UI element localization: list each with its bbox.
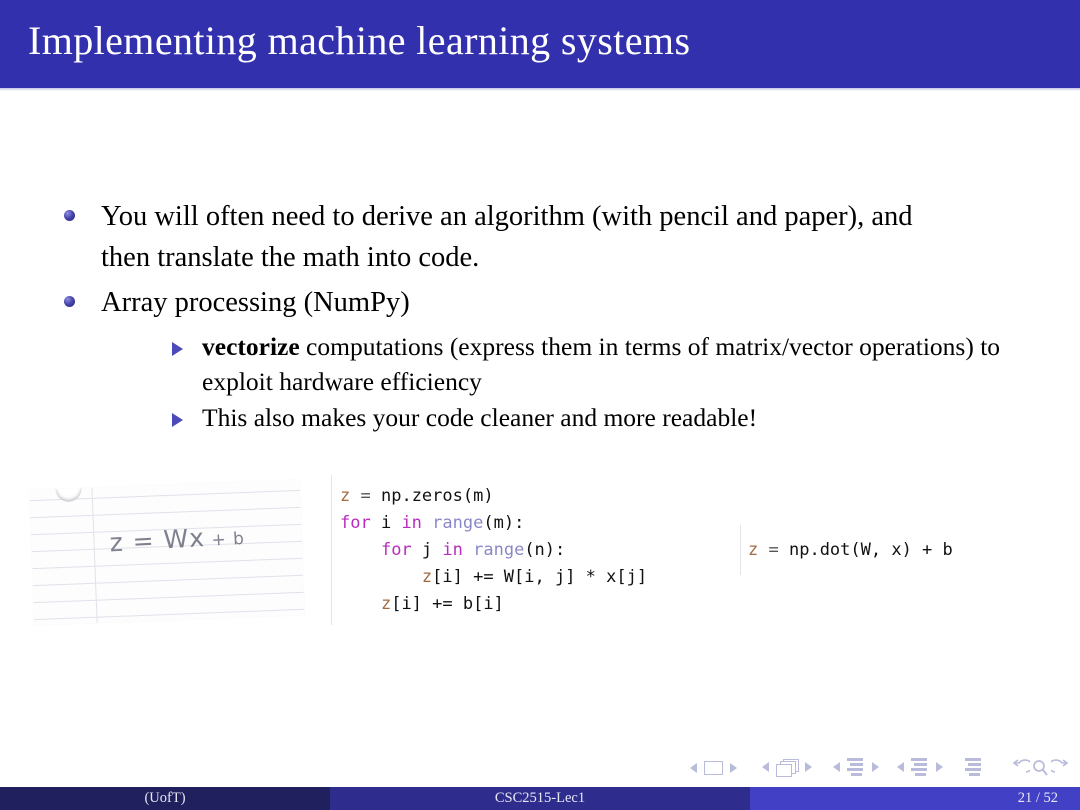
sub-list-item: This also makes your code cleaner and mo… xyxy=(166,400,1016,435)
code-token: z xyxy=(340,486,350,506)
prev-slide-icon[interactable] xyxy=(690,763,697,773)
code-token: for xyxy=(381,540,412,560)
nav-group-presentation[interactable] xyxy=(965,758,983,775)
prev-section-icon[interactable] xyxy=(897,762,904,772)
bullet-disc-icon xyxy=(64,210,75,221)
code-token xyxy=(340,567,422,587)
code-token xyxy=(340,594,381,614)
nav-group-history[interactable] xyxy=(1010,759,1071,777)
nav-group-slide[interactable] xyxy=(690,761,737,775)
stacked-frames-icon[interactable] xyxy=(776,759,798,775)
bullet-triangle-icon xyxy=(172,413,183,427)
code-token: (n): xyxy=(524,540,565,560)
code-token xyxy=(463,540,473,560)
code-token: np.zeros(m) xyxy=(371,486,494,506)
slide-title-bar: Implementing machine learning systems xyxy=(0,0,1080,88)
bullet-text: Array processing (NumPy) xyxy=(101,282,956,323)
list-item: You will often need to derive an algorit… xyxy=(56,196,1016,278)
handwritten-equation-tail: + b xyxy=(205,529,246,551)
arrow-back-icon[interactable] xyxy=(1010,759,1030,777)
code-token: j xyxy=(412,540,443,560)
code-token: in xyxy=(401,513,421,533)
page-title: Implementing machine learning systems xyxy=(28,17,690,64)
sub-bullet-rest: computations (express them in terms of m… xyxy=(202,332,1000,396)
code-token: z xyxy=(422,567,432,587)
arrow-forward-icon[interactable] xyxy=(1051,759,1071,777)
next-section-icon[interactable] xyxy=(936,762,943,772)
magnifier-icon[interactable] xyxy=(1032,759,1049,777)
nav-group-subsection[interactable] xyxy=(833,758,879,775)
footer-institution: (UofT) xyxy=(0,787,330,810)
bullet-text: You will often need to derive an algorit… xyxy=(101,196,956,278)
rectangle-icon[interactable] xyxy=(704,761,723,775)
paper-margin-line xyxy=(91,488,97,623)
sub-list-item: vectorize computations (express them in … xyxy=(166,329,1016,399)
code-token: = xyxy=(769,540,779,560)
slide-root: Implementing machine learning systems Yo… xyxy=(0,0,1080,810)
code-token: = xyxy=(361,486,371,506)
handwritten-note-image: z = Wx + b xyxy=(30,480,305,625)
nav-group-frame[interactable] xyxy=(762,759,812,775)
document-lines-icon[interactable] xyxy=(911,758,929,775)
code-token: i xyxy=(371,513,402,533)
sub-bullet-rest: This also makes your code cleaner and mo… xyxy=(202,403,757,432)
code-block-loop: z = np.zeros(m) for i in range(m): for j… xyxy=(340,483,647,618)
next-subsection-icon[interactable] xyxy=(872,762,879,772)
prev-frame-icon[interactable] xyxy=(762,762,769,772)
code-token: z xyxy=(381,594,391,614)
code-token xyxy=(758,540,768,560)
bullet-triangle-icon xyxy=(172,342,183,356)
code-token: [i] += b[i] xyxy=(391,594,504,614)
presentation-icon[interactable] xyxy=(965,758,983,775)
code-right-rule xyxy=(740,525,741,575)
code-token xyxy=(422,513,432,533)
slide-footer: (UofT) CSC2515-Lec1 21 / 52 xyxy=(0,787,1080,810)
code-left-rule xyxy=(331,475,332,625)
slide-content: You will often need to derive an algorit… xyxy=(0,88,1080,748)
code-token xyxy=(340,540,381,560)
nav-group-section[interactable] xyxy=(897,758,943,775)
code-token: for xyxy=(340,513,371,533)
next-slide-icon[interactable] xyxy=(730,763,737,773)
next-frame-icon[interactable] xyxy=(805,762,812,772)
handwritten-equation: z = Wx + b xyxy=(109,521,246,558)
beamer-navigation-bar xyxy=(0,757,1080,785)
sub-bullet-list: vectorize computations (express them in … xyxy=(166,329,1016,435)
sub-bullet-text: vectorize computations (express them in … xyxy=(202,329,1016,399)
code-token: range xyxy=(473,540,524,560)
sub-bullet-emphasis: vectorize xyxy=(202,332,300,361)
code-token: range xyxy=(432,513,483,533)
document-lines-icon[interactable] xyxy=(847,758,865,775)
code-token: in xyxy=(442,540,462,560)
bullet-list: You will often need to derive an algorit… xyxy=(56,196,1016,439)
handwritten-equation-lead: z = Wx xyxy=(109,523,206,557)
code-token: (m): xyxy=(483,513,524,533)
bullet-disc-icon xyxy=(64,296,75,307)
list-item: Array processing (NumPy) vectorize compu… xyxy=(56,282,1016,435)
footer-page-number: 21 / 52 xyxy=(750,787,1080,810)
code-token: [i] += W[i, j] * x[j] xyxy=(432,567,647,587)
figure-row: z = Wx + b z = np.zeros(m) for i in rang… xyxy=(0,483,1080,643)
prev-subsection-icon[interactable] xyxy=(833,762,840,772)
footer-course: CSC2515-Lec1 xyxy=(330,787,750,810)
code-block-vectorized: z = np.dot(W, x) + b xyxy=(748,537,953,564)
sub-bullet-text: This also makes your code cleaner and mo… xyxy=(202,400,1016,435)
code-token xyxy=(350,486,360,506)
code-token: z xyxy=(748,540,758,560)
code-token: np.dot(W, x) + b xyxy=(779,540,953,560)
